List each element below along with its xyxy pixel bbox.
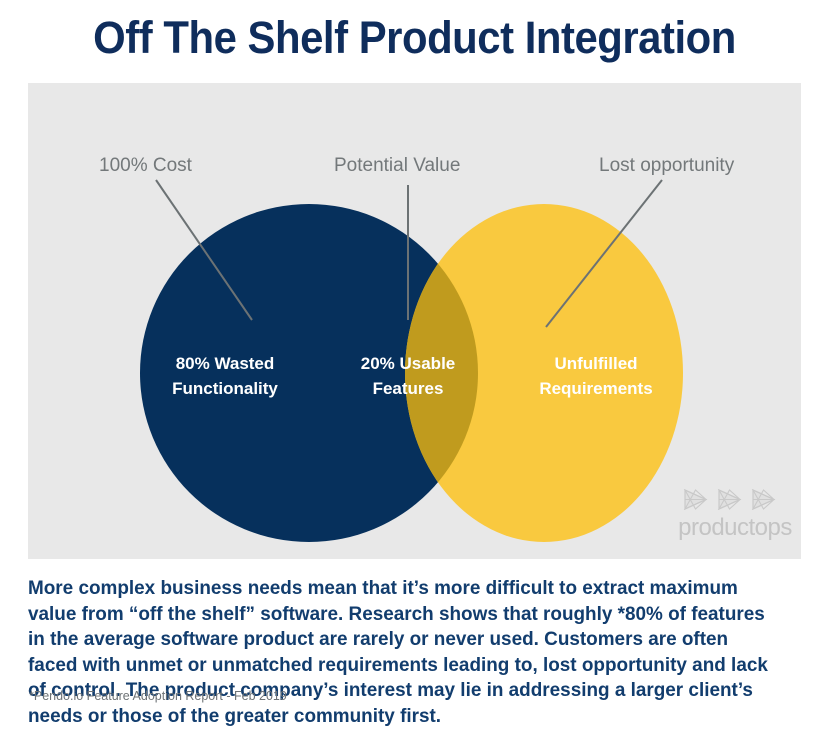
productops-wordmark: productops bbox=[678, 514, 792, 541]
productops-logo: productops bbox=[676, 487, 794, 545]
callout-label-cost: 100% Cost bbox=[99, 154, 192, 178]
body-paragraph: More complex business needs mean that it… bbox=[28, 576, 780, 729]
venn-diagram-panel: 100% Cost Potential Value Lost opportuni… bbox=[28, 83, 801, 559]
venn-label-unfulfilled-requirements: Unfulfilled Requirements bbox=[486, 351, 706, 401]
productops-logo-marks bbox=[685, 490, 774, 509]
page-title: Off The Shelf Product Integration bbox=[29, 12, 800, 64]
callout-label-lost-opportunity: Lost opportunity bbox=[599, 154, 734, 178]
venn-label-wasted-functionality: 80% Wasted Functionality bbox=[110, 351, 340, 401]
venn-label-usable-features: 20% Usable Features bbox=[338, 351, 478, 401]
footnote-source: *Pendo.io Feature Adoption Report - Feb … bbox=[29, 688, 287, 704]
callout-label-potential-value: Potential Value bbox=[334, 154, 460, 178]
